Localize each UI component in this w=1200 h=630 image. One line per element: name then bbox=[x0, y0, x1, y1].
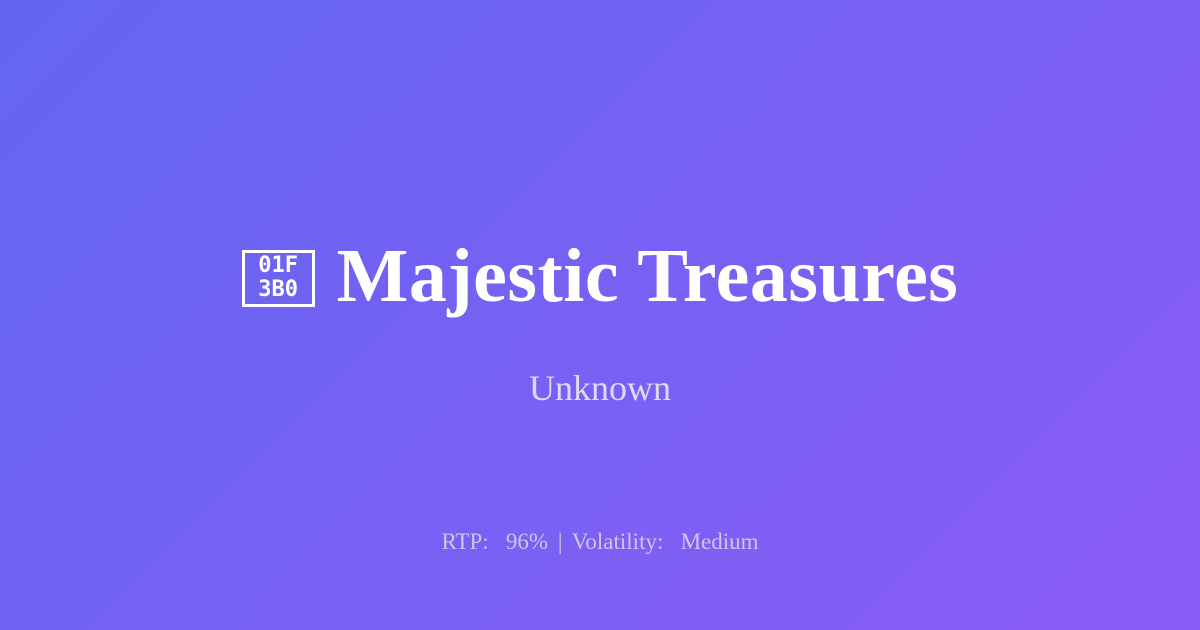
rtp-value: 96% bbox=[506, 529, 548, 554]
slot-machine-icon: 01F 3B0 bbox=[242, 250, 315, 307]
game-og-card: 01F 3B0 Majestic Treasures Unknown RTP: … bbox=[0, 0, 1200, 630]
title-row: 01F 3B0 Majestic Treasures bbox=[0, 232, 1200, 320]
game-provider: Unknown bbox=[0, 366, 1200, 410]
game-title: Majestic Treasures bbox=[337, 233, 959, 319]
meta-separator: | bbox=[554, 529, 567, 554]
game-meta: RTP: 96% | Volatility: Medium bbox=[0, 527, 1200, 557]
slot-machine-icon-codepoint-low: 3B0 bbox=[258, 278, 298, 302]
volatility-label: Volatility: bbox=[572, 529, 664, 554]
volatility-value: Medium bbox=[681, 529, 759, 554]
slot-machine-icon-codepoint-high: 01F bbox=[258, 254, 298, 278]
rtp-label: RTP: bbox=[441, 529, 488, 554]
